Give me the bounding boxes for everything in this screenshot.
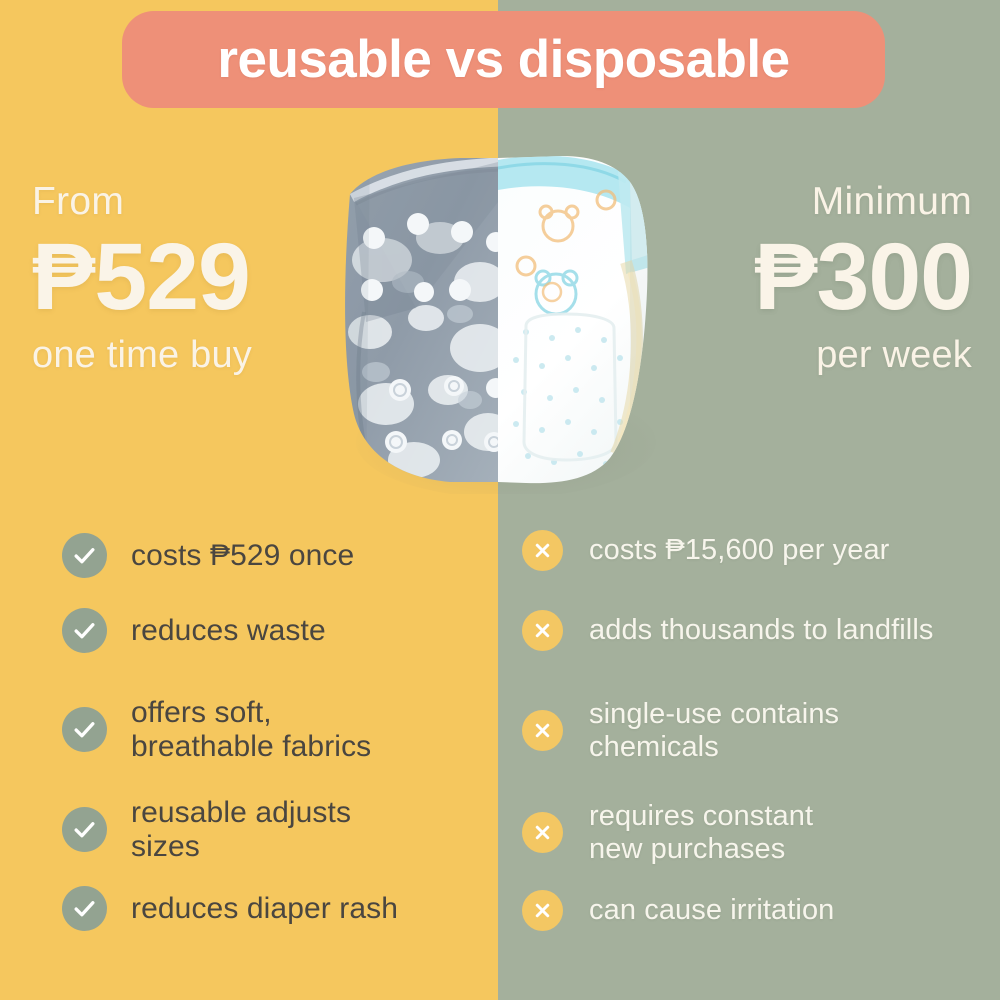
right-price-sublabel: per week (754, 336, 972, 376)
check-icon (62, 707, 107, 752)
list-item-label: single-use contains chemicals (589, 698, 839, 764)
list-item-label: adds thousands to landfills (589, 614, 933, 647)
close-icon (522, 610, 563, 651)
list-item-label: reusable adjusts sizes (131, 796, 351, 864)
left-price-amount: ₱529 (32, 227, 252, 328)
close-icon (522, 710, 563, 751)
list-item-label: costs ₱15,600 per year (589, 534, 889, 567)
left-price-label: From (32, 182, 252, 223)
title-banner: reusable vs disposable (122, 11, 885, 108)
check-icon (62, 533, 107, 578)
close-icon (522, 530, 563, 571)
list-item-label: reduces diaper rash (131, 892, 398, 926)
left-price-sublabel: one time buy (32, 336, 252, 376)
close-icon (522, 890, 563, 931)
right-price-block: Minimum ₱300 per week (754, 182, 972, 376)
check-icon (62, 886, 107, 931)
list-item: single-use contains chemicals (522, 698, 839, 764)
left-price-block: From ₱529 one time buy (32, 182, 252, 376)
list-item: reduces diaper rash (62, 886, 398, 931)
check-icon (62, 608, 107, 653)
list-item: can cause irritation (522, 890, 834, 931)
list-item: reusable adjusts sizes (62, 796, 351, 864)
right-price-label: Minimum (754, 182, 972, 223)
page-title: reusable vs disposable (217, 33, 789, 86)
list-item: reduces waste (62, 608, 326, 653)
list-item: offers soft, breathable fabrics (62, 696, 371, 764)
list-item: costs ₱15,600 per year (522, 530, 889, 571)
close-icon (522, 812, 563, 853)
list-item-label: costs ₱529 once (131, 539, 354, 573)
right-price-amount: ₱300 (754, 227, 972, 328)
list-item: costs ₱529 once (62, 533, 354, 578)
list-item-label: offers soft, breathable fabrics (131, 696, 371, 764)
list-item-label: requires constant new purchases (589, 800, 813, 866)
list-item: adds thousands to landfills (522, 610, 933, 651)
product-photo (330, 142, 682, 494)
list-item-label: can cause irritation (589, 894, 834, 927)
check-icon (62, 807, 107, 852)
list-item-label: reduces waste (131, 614, 326, 648)
list-item: requires constant new purchases (522, 800, 813, 866)
